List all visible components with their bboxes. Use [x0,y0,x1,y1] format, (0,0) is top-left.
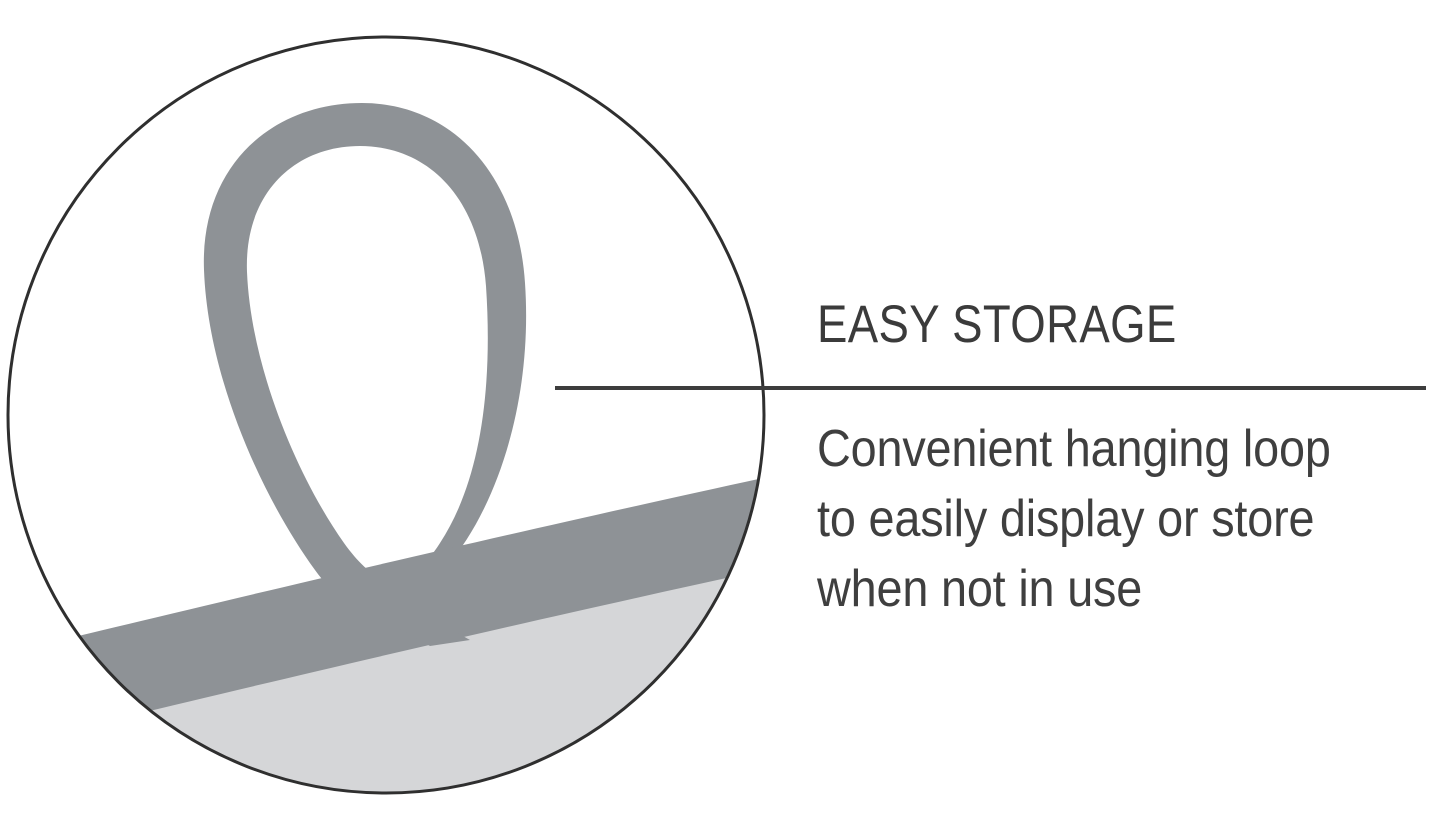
description-line-1: Convenient hanging loop [817,414,1393,484]
description-line-2: to easily display or store [817,484,1393,554]
feature-callout-figure: EASY STORAGE Convenient hanging loop to … [0,0,1429,831]
page-title: EASY STORAGE [817,296,1333,354]
callout-description: Convenient hanging loop to easily displa… [817,414,1429,624]
description-line-3: when not in use [817,554,1393,624]
callout-text-block: EASY STORAGE [817,296,1417,354]
